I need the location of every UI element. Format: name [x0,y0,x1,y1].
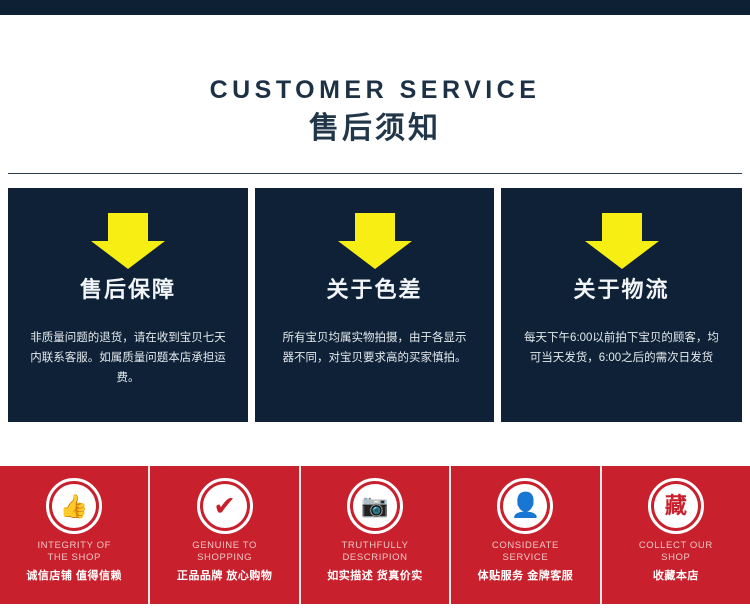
feature-label-english-line2: THE SHOP [0,552,148,564]
feature-label-english-line1: CONSIDEATE [451,540,599,552]
feature-label-chinese: 如实描述 货真价实 [301,567,449,583]
down-arrow-icon [585,213,659,269]
info-card-color-difference: 关于色差 所有宝贝均属实物拍摄，由于各显示器不同，对宝贝要求高的买家慎拍。 [255,188,494,422]
info-card-title: 售后保障 [8,279,248,301]
feature-label-english: COLLECT OUR SHOP [602,540,750,564]
feature-collect-our-shop[interactable]: 藏 COLLECT OUR SHOP 收藏本店 [602,466,750,604]
info-card-body: 所有宝贝均属实物拍摄，由于各显示器不同，对宝贝要求高的买家慎拍。 [255,328,494,368]
top-navy-bar [0,0,750,15]
camera-icon: 📷 [347,478,403,534]
thumbs-up-icon: 👍 [46,478,102,534]
info-card-body: 非质量问题的退货，请在收到宝贝七天内联系客服。如属质量问题本店承担运费。 [8,328,248,388]
feature-label-english-line2: SHOPPING [150,552,298,564]
feature-label-english-line1: INTEGRITY OF [0,540,148,552]
feature-consideate-service: 👤 CONSIDEATE SERVICE 体贴服务 金牌客服 [451,466,601,604]
page-title-english: CUSTOMER SERVICE [0,78,750,103]
feature-banner: 👍 INTEGRITY OF THE SHOP 诚信店铺 值得信赖 ✔ GENU… [0,466,750,604]
feature-label-english: TRUTHFULLY DESCRIPION [301,540,449,564]
collect-store-glyph: 藏 [654,484,698,528]
camera-glyph: 📷 [353,484,397,528]
person-glyph: 👤 [503,484,547,528]
feature-label-english-line1: COLLECT OUR [602,540,750,552]
feature-label-chinese: 诚信店铺 值得信赖 [0,567,148,583]
page-title-chinese: 售后须知 [0,114,750,144]
feature-label-english-line1: TRUTHFULLY [301,540,449,552]
page-heading: CUSTOMER SERVICE 售后须知 [0,15,750,173]
check-mark-icon: ✔ [197,478,253,534]
feature-label-english-line2: SHOP [602,552,750,564]
heading-divider [8,173,742,174]
info-card-after-sales-guarantee: 售后保障 非质量问题的退货，请在收到宝贝七天内联系客服。如属质量问题本店承担运费… [8,188,248,422]
feature-label-english: INTEGRITY OF THE SHOP [0,540,148,564]
feature-label-english: CONSIDEATE SERVICE [451,540,599,564]
info-card-body: 每天下午6:00以前拍下宝贝的顾客，均可当天发货，6:00之后的需次日发货 [501,328,742,368]
down-arrow-icon [338,213,412,269]
feature-integrity-of-the-shop: 👍 INTEGRITY OF THE SHOP 诚信店铺 值得信赖 [0,466,150,604]
feature-label-chinese: 体贴服务 金牌客服 [451,567,599,583]
feature-label-chinese: 收藏本店 [602,567,750,583]
feature-label-english-line2: SERVICE [451,552,599,564]
info-card-title: 关于色差 [255,279,494,301]
feature-label-chinese: 正品品牌 放心购物 [150,567,298,583]
info-card-logistics: 关于物流 每天下午6:00以前拍下宝贝的顾客，均可当天发货，6:00之后的需次日… [501,188,742,422]
feature-label-english-line1: GENUINE TO [150,540,298,552]
feature-truthfully-descripion: 📷 TRUTHFULLY DESCRIPION 如实描述 货真价实 [301,466,451,604]
feature-genuine-to-shopping: ✔ GENUINE TO SHOPPING 正品品牌 放心购物 [150,466,300,604]
feature-label-english: GENUINE TO SHOPPING [150,540,298,564]
person-icon: 👤 [497,478,553,534]
down-arrow-icon [91,213,165,269]
check-mark-glyph: ✔ [203,484,247,528]
thumbs-up-glyph: 👍 [52,484,96,528]
feature-label-english-line2: DESCRIPION [301,552,449,564]
collect-store-icon[interactable]: 藏 [648,478,704,534]
info-card-group: 售后保障 非质量问题的退货，请在收到宝贝七天内联系客服。如属质量问题本店承担运费… [0,188,750,422]
customer-service-page: CUSTOMER SERVICE 售后须知 售后保障 非质量问题的退货，请在收到… [0,0,750,608]
info-card-title: 关于物流 [501,279,742,301]
